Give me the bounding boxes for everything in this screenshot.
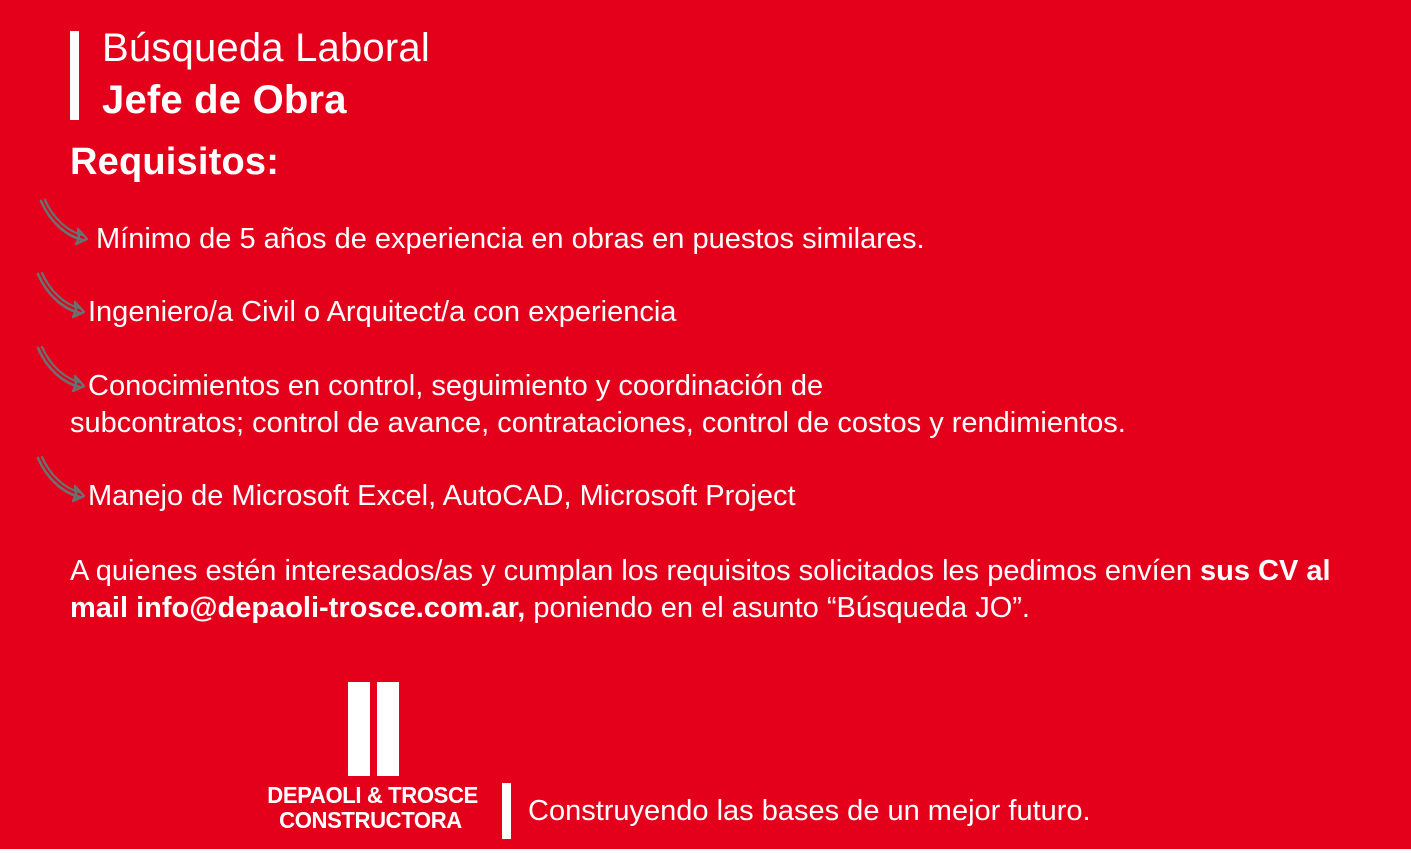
logo-name-line1: DEPAOLI & TROSCE <box>267 783 473 808</box>
eyebrow-text: Búsqueda Laboral <box>102 28 430 68</box>
requirement-item: Manejo de Microsoft Excel, AutoCAD, Micr… <box>88 478 1368 515</box>
requirement-text-continued: subcontratos; control de avance, contrat… <box>70 405 1358 442</box>
requirement-text: Conocimientos en control, seguimiento y … <box>88 370 823 402</box>
position-title: Jefe de Obra <box>102 80 430 120</box>
tagline-group: Construyendo las bases de un mejor futur… <box>502 783 1091 839</box>
logo-bar-left <box>348 682 370 776</box>
tagline-text: Construyendo las bases de un mejor futur… <box>528 795 1091 828</box>
requirement-item: Conocimientos en control, seguimiento y … <box>88 368 1358 442</box>
title-text-group: Búsqueda Laboral Jefe de Obra <box>102 28 430 120</box>
logo-bar-right <box>377 682 399 776</box>
tagline-accent-bar <box>502 783 511 839</box>
poster-header: Búsqueda Laboral Jefe de Obra <box>70 28 430 120</box>
closing-paragraph: A quienes estén interesados/as y cumplan… <box>70 553 1370 627</box>
logo-name-line2: CONSTRUCTORA <box>267 808 473 833</box>
requirements-heading: Requisitos: <box>70 141 279 184</box>
requirement-item: Ingeniero/a Civil o Arquitect/a con expe… <box>88 294 1368 331</box>
job-posting-poster: Búsqueda Laboral Jefe de Obra Requisitos… <box>0 0 1411 853</box>
closing-text-part1: A quienes estén interesados/as y cumplan… <box>70 555 1200 587</box>
logo-mark <box>348 682 478 776</box>
bottom-white-strip <box>0 849 1411 853</box>
title-accent-bar <box>70 31 79 120</box>
closing-text-part2: poniendo en el asunto “Búsqueda JO”. <box>525 592 1030 624</box>
requirement-item: Mínimo de 5 años de experiencia en obras… <box>96 221 1376 258</box>
company-logo: DEPAOLI & TROSCE CONSTRUCTORA <box>263 682 478 833</box>
